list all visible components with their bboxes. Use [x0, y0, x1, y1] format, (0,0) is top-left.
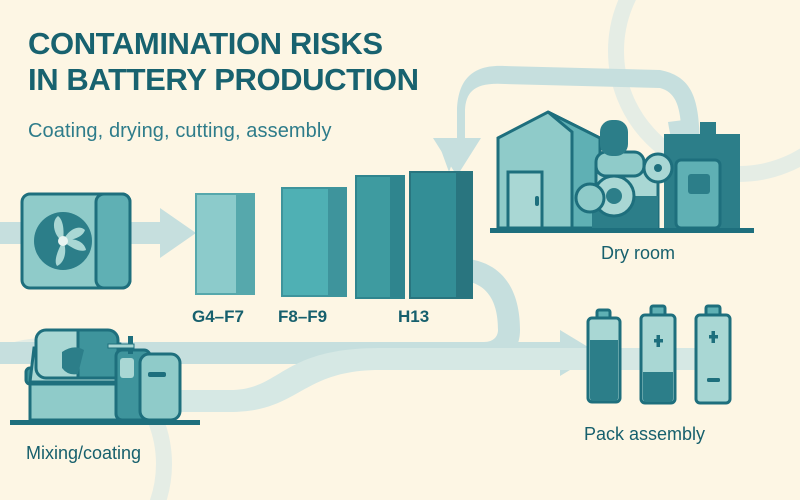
filter-h13-icon — [356, 172, 472, 298]
page-title: CONTAMINATION RISKS IN BATTERY PRODUCTIO… — [28, 26, 458, 99]
stage-label-mixing-coating: Mixing/coating — [26, 443, 141, 464]
air-handling-unit-icon — [22, 194, 130, 288]
mixing-coating-machine-icon — [10, 330, 200, 425]
page-subtitle: Coating, drying, cutting, assembly — [28, 120, 332, 143]
filter-g4-f7-icon — [196, 194, 254, 294]
filter-label-g4-f7: G4–F7 — [192, 307, 244, 327]
pack-assembly-icon — [588, 306, 730, 403]
filter-f8-f9-icon — [282, 188, 346, 296]
filter-label-h13: H13 — [398, 307, 429, 327]
stage-label-pack-assembly: Pack assembly — [584, 424, 705, 445]
filter-label-f8-f9: F8–F9 — [278, 307, 327, 327]
stage-label-dry-room: Dry room — [601, 243, 675, 264]
infographic-canvas: CONTAMINATION RISKS IN BATTERY PRODUCTIO… — [0, 0, 800, 500]
title-line-2: IN BATTERY PRODUCTION — [28, 62, 458, 98]
dry-room-icon — [490, 112, 754, 233]
title-line-1: CONTAMINATION RISKS — [28, 26, 458, 62]
